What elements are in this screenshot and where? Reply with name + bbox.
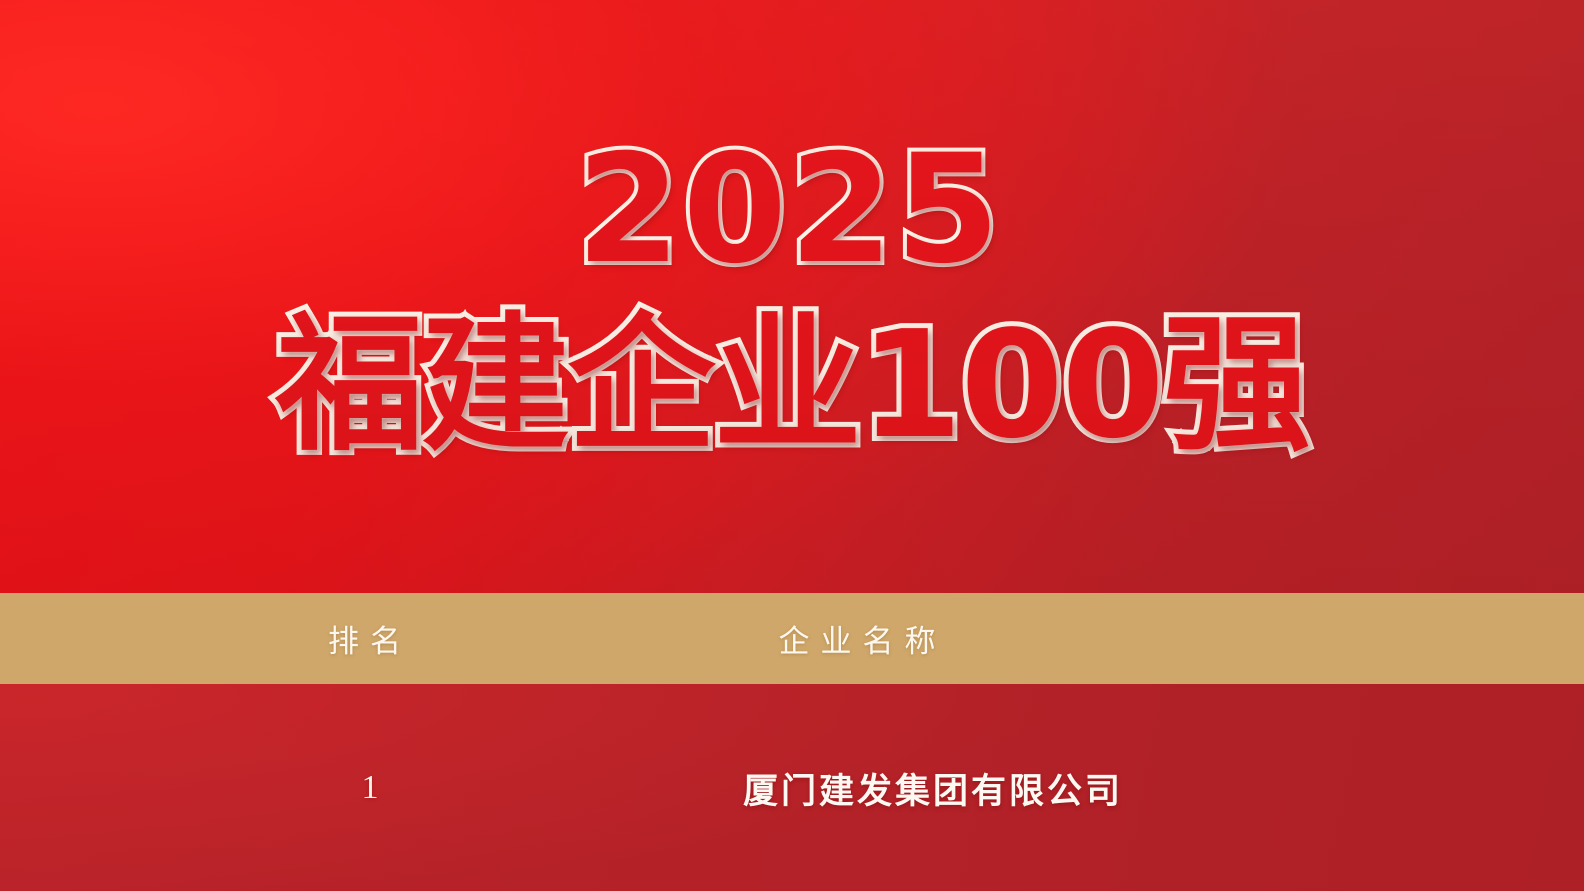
poster-screenshot: 2025 福建企业100强 排名 企业名称 1 厦门建发集团有限公司 <box>0 0 1584 891</box>
table-cell-company-name: 厦门建发集团有限公司 <box>740 763 985 814</box>
table-body: 1 厦门建发集团有限公司 <box>0 684 1584 891</box>
column-header-rank: 排名 <box>0 616 740 661</box>
poster-main-title: 福建企业100强 <box>276 311 1309 459</box>
column-header-name-label: 企业名称 <box>779 624 947 660</box>
table-cell-rank: 1 <box>0 769 740 807</box>
column-header-name: 企业名称 <box>740 616 985 661</box>
title-block: 2025 福建企业100强 <box>0 0 1584 593</box>
column-header-rank-label: 排名 <box>328 624 412 660</box>
table-header-bar: 排名 企业名称 <box>0 593 1584 684</box>
hero-banner: 2025 福建企业100强 <box>0 0 1584 593</box>
poster-year: 2025 <box>576 135 1001 285</box>
table-row[interactable]: 1 厦门建发集团有限公司 <box>0 756 1584 820</box>
